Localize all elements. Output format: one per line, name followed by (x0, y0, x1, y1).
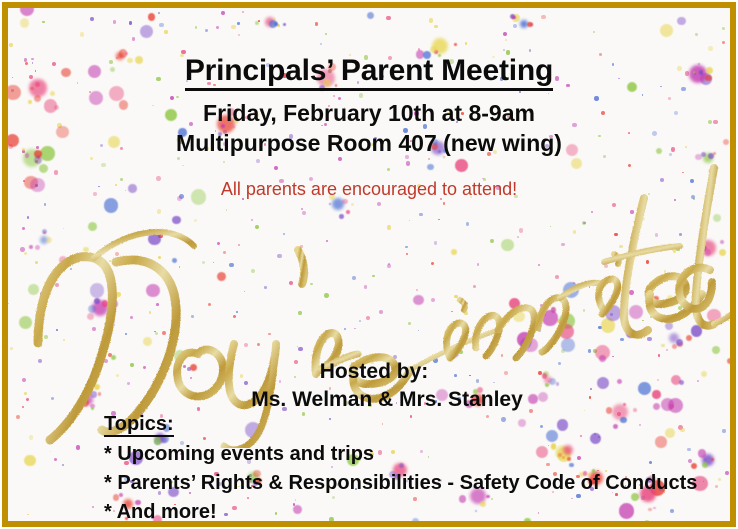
flyer-text-layer: Principals’ Parent Meeting Friday, Febru… (8, 8, 730, 521)
hosted-by-label: Hosted by: (8, 360, 730, 384)
topics-block: Topics: * Upcoming events and trips * Pa… (104, 414, 697, 524)
topic-item: * Upcoming events and trips (104, 443, 697, 466)
meeting-datetime: Friday, February 10th at 8-9am (8, 100, 730, 127)
meeting-location: Multipurpose Room 407 (new wing) (8, 130, 730, 157)
topics-heading: Topics: (104, 414, 174, 437)
encouragement-note: All parents are encouraged to attend! (8, 179, 730, 200)
page-title: Principals’ Parent Meeting (8, 54, 730, 88)
topic-item: * And more! (104, 501, 697, 524)
hosted-by-block: Hosted by: Ms. Welman & Mrs. Stanley (8, 360, 730, 412)
flyer-canvas: Principals’ Parent Meeting Friday, Febru… (0, 0, 738, 529)
host-names: Ms. Welman & Mrs. Stanley (8, 388, 730, 412)
page-title-text: Principals’ Parent Meeting (185, 54, 553, 91)
topic-item: * Parents’ Rights & Responsibilities - S… (104, 472, 697, 495)
flyer-gold-frame: Principals’ Parent Meeting Friday, Febru… (2, 2, 736, 527)
